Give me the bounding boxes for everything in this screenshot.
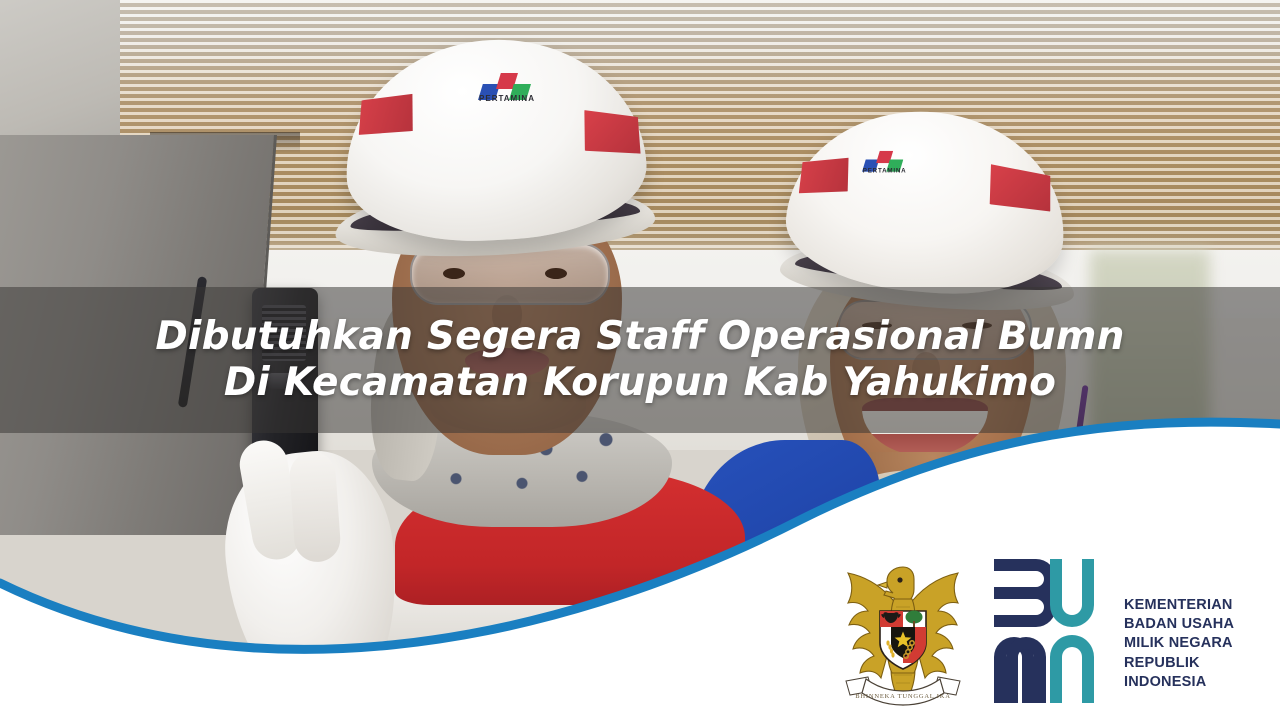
eye-right-left-worker bbox=[545, 268, 567, 279]
headline-line-1: Dibutuhkan Segera Staff Operasional Bumn bbox=[155, 314, 1124, 360]
ministry-line-2: BADAN USAHA bbox=[1124, 615, 1234, 634]
pertamina-logo-left: PERTAMINA bbox=[478, 72, 534, 106]
headline-line-2: Di Kecamatan Korupun Kab Yahukimo bbox=[224, 360, 1056, 406]
job-vacancy-poster: PERTAMINA PERTAMINA bbox=[0, 0, 1280, 720]
bumn-letter-u bbox=[1050, 559, 1094, 627]
pertamina-wordmark-left: PERTAMINA bbox=[472, 94, 542, 103]
headline-overlay-band: Dibutuhkan Segera Staff Operasional Bumn… bbox=[0, 287, 1280, 433]
bumn-letter-n bbox=[1050, 635, 1094, 703]
garuda-pancasila-icon: BHINNEKA TUNGGAL IKA bbox=[828, 551, 978, 711]
bumn-letter-b bbox=[994, 559, 1056, 627]
glove-finger-2 bbox=[288, 451, 342, 564]
bumn-wordmark-icon bbox=[992, 555, 1104, 707]
eye-left-left-worker bbox=[443, 268, 465, 279]
bhinneka-motto-text: BHINNEKA TUNGGAL IKA bbox=[855, 693, 950, 700]
pertamina-logo-right: PERTAMINA bbox=[862, 150, 906, 177]
ministry-line-5: INDONESIA bbox=[1124, 673, 1234, 692]
ministry-name-block: KEMENTERIAN BADAN USAHA MILIK NEGARA REP… bbox=[1124, 596, 1234, 692]
bumn-logo-lockup: BHINNEKA TUNGGAL IKA bbox=[828, 548, 1268, 714]
pertamina-wordmark-right: PERTAMINA bbox=[857, 167, 912, 174]
bumn-letter-m bbox=[994, 637, 1046, 703]
ministry-line-1: KEMENTERIAN bbox=[1124, 596, 1234, 615]
ministry-line-3: MILIK NEGARA bbox=[1124, 634, 1234, 653]
ministry-line-4: REPUBLIK bbox=[1124, 654, 1234, 673]
